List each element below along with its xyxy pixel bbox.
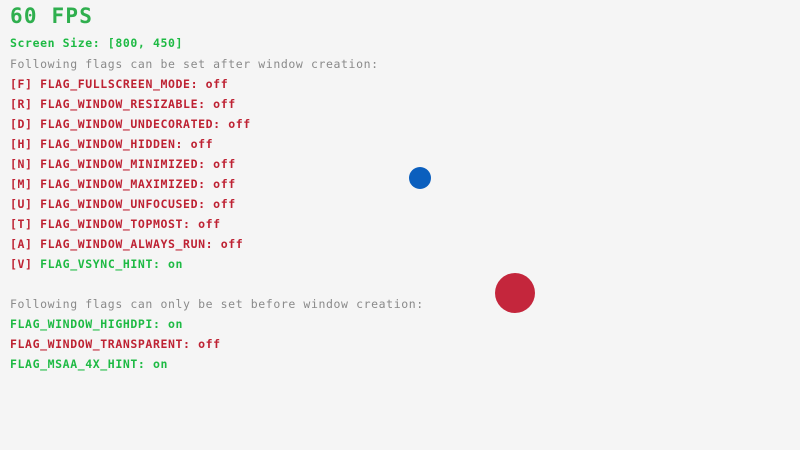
flag-value: on xyxy=(168,257,183,271)
flag-row-flag-window-hidden[interactable]: [H] FLAG_WINDOW_HIDDEN: off xyxy=(10,138,213,150)
flag-value: off xyxy=(198,337,221,351)
flag-name: FLAG_WINDOW_MINIMIZED: xyxy=(40,157,206,171)
flag-hotkey: [T] xyxy=(10,217,33,231)
flag-row-flag-window-highdpi[interactable]: FLAG_WINDOW_HIGHDPI: on xyxy=(10,318,183,330)
flag-value: on xyxy=(153,357,168,371)
flag-hotkey: [V] xyxy=(10,257,33,271)
flag-name: FLAG_MSAA_4X_HINT: xyxy=(10,357,145,371)
flag-row-flag-window-resizable[interactable]: [R] FLAG_WINDOW_RESIZABLE: off xyxy=(10,98,236,110)
flag-value: off xyxy=(206,77,229,91)
flag-name: FLAG_WINDOW_HIGHDPI: xyxy=(10,317,160,331)
flag-row-flag-window-unfocused[interactable]: [U] FLAG_WINDOW_UNFOCUSED: off xyxy=(10,198,236,210)
flag-value: off xyxy=(228,117,251,131)
flag-value: off xyxy=(198,217,221,231)
flag-row-flag-vsync-hint[interactable]: [V] FLAG_VSYNC_HINT: on xyxy=(10,258,183,270)
flag-row-flag-window-minimized[interactable]: [N] FLAG_WINDOW_MINIMIZED: off xyxy=(10,158,236,170)
flag-value: off xyxy=(221,237,244,251)
raylib-window-canvas[interactable]: 60 FPS Screen Size: [800, 450] Following… xyxy=(0,0,800,450)
flag-name: FLAG_WINDOW_UNDECORATED: xyxy=(40,117,221,131)
flag-value: off xyxy=(213,197,236,211)
flag-value: off xyxy=(213,157,236,171)
flag-hotkey: [H] xyxy=(10,137,33,151)
flag-name: FLAG_WINDOW_TOPMOST: xyxy=(40,217,190,231)
flag-value: off xyxy=(213,177,236,191)
section-heading-0: Following flags can be set after window … xyxy=(10,58,379,70)
flag-hotkey: [F] xyxy=(10,77,33,91)
flag-row-flag-msaa-4x-hint[interactable]: FLAG_MSAA_4X_HINT: on xyxy=(10,358,168,370)
red-ball-shape xyxy=(495,273,535,313)
blue-ball-shape xyxy=(409,167,431,189)
flag-row-flag-fullscreen-mode[interactable]: [F] FLAG_FULLSCREEN_MODE: off xyxy=(10,78,228,90)
flag-hotkey: [U] xyxy=(10,197,33,211)
flag-name: FLAG_WINDOW_TRANSPARENT: xyxy=(10,337,191,351)
flag-hotkey: [R] xyxy=(10,97,33,111)
flag-name: FLAG_WINDOW_HIDDEN: xyxy=(40,137,183,151)
flag-name: FLAG_WINDOW_UNFOCUSED: xyxy=(40,197,206,211)
flag-name: FLAG_VSYNC_HINT: xyxy=(40,257,160,271)
flag-hotkey: [M] xyxy=(10,177,33,191)
flag-hotkey: [D] xyxy=(10,117,33,131)
flag-name: FLAG_WINDOW_ALWAYS_RUN: xyxy=(40,237,213,251)
flag-hotkey: [A] xyxy=(10,237,33,251)
screen-size-label: Screen Size: [800, 450] xyxy=(10,37,183,49)
flag-row-flag-window-undecorated[interactable]: [D] FLAG_WINDOW_UNDECORATED: off xyxy=(10,118,251,130)
flag-hotkey: [N] xyxy=(10,157,33,171)
flag-row-flag-window-topmost[interactable]: [T] FLAG_WINDOW_TOPMOST: off xyxy=(10,218,221,230)
flag-row-flag-window-transparent[interactable]: FLAG_WINDOW_TRANSPARENT: off xyxy=(10,338,221,350)
flag-row-flag-window-always-run[interactable]: [A] FLAG_WINDOW_ALWAYS_RUN: off xyxy=(10,238,243,250)
flag-name: FLAG_WINDOW_MAXIMIZED: xyxy=(40,177,206,191)
hud-text-layer: 60 FPS Screen Size: [800, 450] Following… xyxy=(0,0,800,450)
flag-name: FLAG_WINDOW_RESIZABLE: xyxy=(40,97,206,111)
flag-name: FLAG_FULLSCREEN_MODE: xyxy=(40,77,198,91)
section-heading-1: Following flags can only be set before w… xyxy=(10,298,424,310)
flag-value: off xyxy=(213,97,236,111)
flag-value: off xyxy=(191,137,214,151)
fps-counter: 60 FPS xyxy=(10,6,93,27)
flag-row-flag-window-maximized[interactable]: [M] FLAG_WINDOW_MAXIMIZED: off xyxy=(10,178,236,190)
flag-value: on xyxy=(168,317,183,331)
